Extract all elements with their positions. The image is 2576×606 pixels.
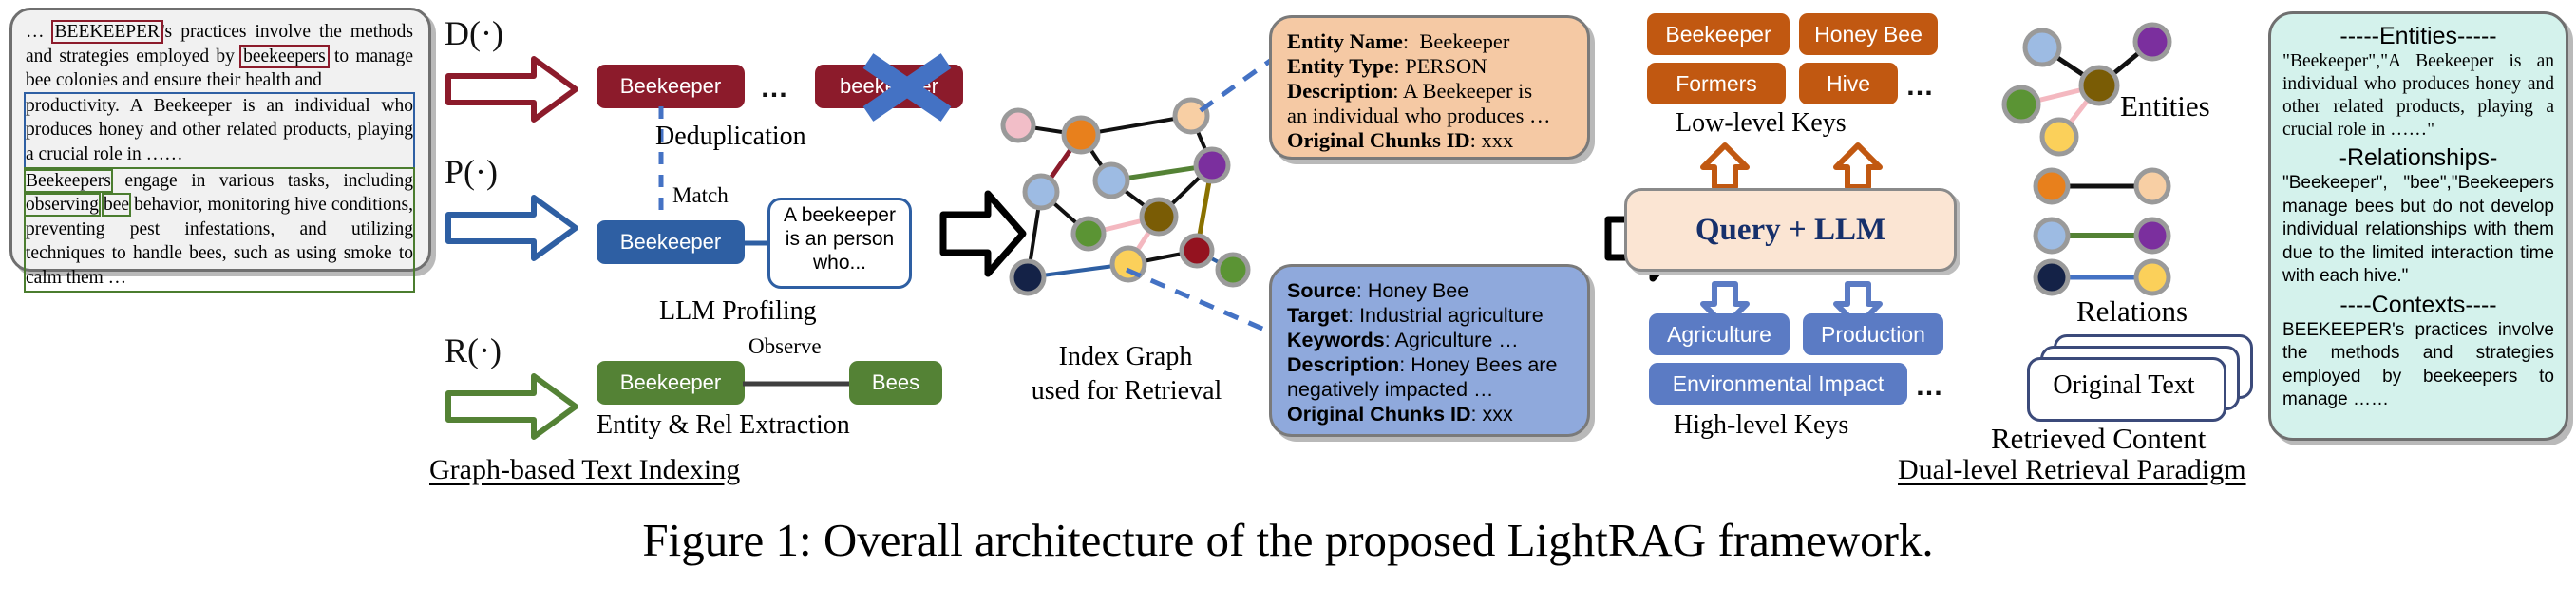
result-panel: -----Entities----- "Beekeeper","A Beekee…: [2268, 11, 2568, 441]
block-arrow-profile: [446, 194, 579, 262]
result-contexts-header: ----Contexts----: [2282, 291, 2554, 319]
section-title-dual-level-retrieval: Dual-level Retrieval Paradigm: [1898, 454, 2246, 486]
chip-low-level-2[interactable]: Formers: [1647, 63, 1786, 104]
entity-info-panel: Entity Name: Beekeeper Entity Type: PERS…: [1269, 15, 1590, 160]
high-level-ellipsis: …: [1915, 370, 1946, 403]
operator-label-extract: R(·): [445, 331, 502, 370]
relation-row-5: Original Chunks ID: xxx: [1287, 402, 1572, 426]
label-retrieved-content: Retrieved Content: [1991, 422, 2206, 456]
highlight-observing: observing: [26, 195, 99, 215]
result-contexts-body: BEEKEEPER's practices involve the method…: [2282, 319, 2554, 412]
highlight-beekeeper-upper: BEEKEEPER: [53, 22, 162, 42]
highlight-bee: bee: [104, 195, 129, 215]
relation-key-1: Target: [1287, 304, 1348, 327]
entity-key-2: Description: [1287, 79, 1392, 103]
figure-root: … BEEKEEPER's practices involve the meth…: [0, 0, 2576, 606]
chip-dedup-keep[interactable]: Beekeeper: [597, 65, 745, 108]
label-entities: Entities: [2120, 89, 2210, 123]
label-entity-rel-extraction: Entity & Rel Extraction: [597, 410, 850, 441]
relation-value-3: Honey Bees are: [1411, 353, 1557, 376]
label-match: Match: [672, 183, 729, 208]
relation-row-1: Target: Industrial agriculture: [1287, 303, 1572, 328]
up-arrow-low-2: [1833, 142, 1883, 190]
label-llm-profiling: LLM Profiling: [659, 296, 817, 327]
source-text-body: … BEEKEEPER's practices involve the meth…: [26, 20, 413, 263]
relation-key-3: Description: [1287, 353, 1399, 376]
label-low-level-keys: Low-level Keys: [1676, 108, 1847, 139]
relation-info-panel: Source: Honey Bee Target: Industrial agr…: [1269, 264, 1590, 437]
relation-key-5: Original Chunks ID: [1287, 403, 1471, 426]
result-entities-body: "Beekeeper","A Beekeeper is an individua…: [2282, 50, 2554, 142]
query-llm-box[interactable]: Query + LLM: [1624, 188, 1957, 272]
entity-key-4: Original Chunks ID: [1287, 128, 1470, 152]
result-entities-header: -----Entities-----: [2282, 22, 2554, 50]
highlight-block-relations: Beekeepers engage in various tasks, incl…: [26, 169, 413, 291]
section-title-graph-indexing: Graph-based Text Indexing: [429, 454, 740, 486]
relation-value-0: Honey Bee: [1368, 279, 1468, 302]
label-original-text: Original Text: [2027, 370, 2221, 401]
highlight-beekeepers-green: Beekeepers: [26, 171, 111, 191]
figure-caption: Figure 1: Overall architecture of the pr…: [0, 513, 2576, 567]
label-deduplication: Deduplication: [655, 122, 806, 152]
relation-value-2: Agriculture …: [1395, 329, 1519, 351]
block-arrow-dedup: [446, 55, 579, 123]
chip-profile-entity[interactable]: Beekeeper: [597, 220, 745, 264]
entity-row-3: an individual who produces …: [1287, 104, 1572, 128]
source-text-card: … BEEKEEPER's practices involve the meth…: [9, 8, 431, 272]
entity-key-1: Entity Type: [1287, 54, 1393, 78]
operator-label-profile: P(·): [445, 152, 498, 192]
source-text-prefix: …: [26, 22, 53, 42]
up-arrow-low-1: [1700, 142, 1750, 190]
entity-value-0: Beekeeper: [1419, 29, 1509, 53]
label-relations: Relations: [2076, 294, 2188, 329]
chip-high-level-1[interactable]: Production: [1803, 313, 1943, 355]
relation-key-2: Keywords: [1287, 329, 1385, 351]
relation-row-4: negatively impacted …: [1287, 377, 1572, 402]
highlight-beekeepers: beekeepers: [241, 47, 328, 66]
chip-low-level-1[interactable]: Honey Bee: [1799, 13, 1938, 55]
chip-extract-source[interactable]: Beekeeper: [597, 361, 745, 405]
relation-key-0: Source: [1287, 279, 1356, 302]
entity-value-2: A Beekeeper is: [1403, 79, 1532, 103]
chip-high-level-2[interactable]: Environmental Impact: [1649, 363, 1907, 405]
entity-value-4: xxx: [1481, 128, 1513, 152]
extract-relation-edge: [743, 378, 853, 389]
low-level-ellipsis: …: [1905, 70, 1937, 103]
relation-row-3: Description: Honey Bees are: [1287, 352, 1572, 377]
entity-row-2: Description: A Beekeeper is: [1287, 79, 1572, 104]
relation-value-1: Industrial agriculture: [1359, 304, 1544, 327]
chip-low-level-3[interactable]: Hive: [1799, 63, 1898, 104]
entity-row-1: Entity Type: PERSON: [1287, 54, 1572, 79]
block-arrow-extract: [446, 372, 579, 441]
green-mid: engage in various tasks, including: [111, 171, 413, 191]
operator-label-dedup: D(·): [445, 13, 503, 53]
relation-value-5: xxx: [1482, 403, 1512, 426]
result-relationships-header: -Relationships-: [2282, 143, 2554, 172]
entity-key-0: Entity Name: [1287, 29, 1403, 53]
graph-caption-line2: used for Retrieval: [997, 376, 1256, 407]
cross-out-icon: [855, 49, 959, 125]
entity-value-1: PERSON: [1405, 54, 1487, 78]
entity-row-0: Entity Name: Beekeeper: [1287, 29, 1572, 54]
profile-description-box: A beekeeper is an person who...: [767, 198, 912, 289]
label-high-level-keys: High-level Keys: [1674, 410, 1848, 441]
highlight-block-description: productivity. A Beekeeper is an individu…: [26, 94, 413, 167]
chip-extract-target[interactable]: Bees: [849, 361, 942, 405]
label-relation-observe: Observe: [748, 334, 822, 359]
dedup-ellipsis: …: [760, 72, 791, 104]
entity-row-4: Original Chunks ID: xxx: [1287, 128, 1572, 153]
chip-high-level-0[interactable]: Agriculture: [1649, 313, 1790, 355]
chip-low-level-0[interactable]: Beekeeper: [1647, 13, 1790, 55]
relation-row-0: Source: Honey Bee: [1287, 278, 1572, 303]
relation-row-2: Keywords: Agriculture …: [1287, 328, 1572, 352]
result-relationships-body: "Beekeeper", "bee","Beekeepers manage be…: [2282, 172, 2554, 289]
relations-mini-graph: [2023, 171, 2204, 294]
